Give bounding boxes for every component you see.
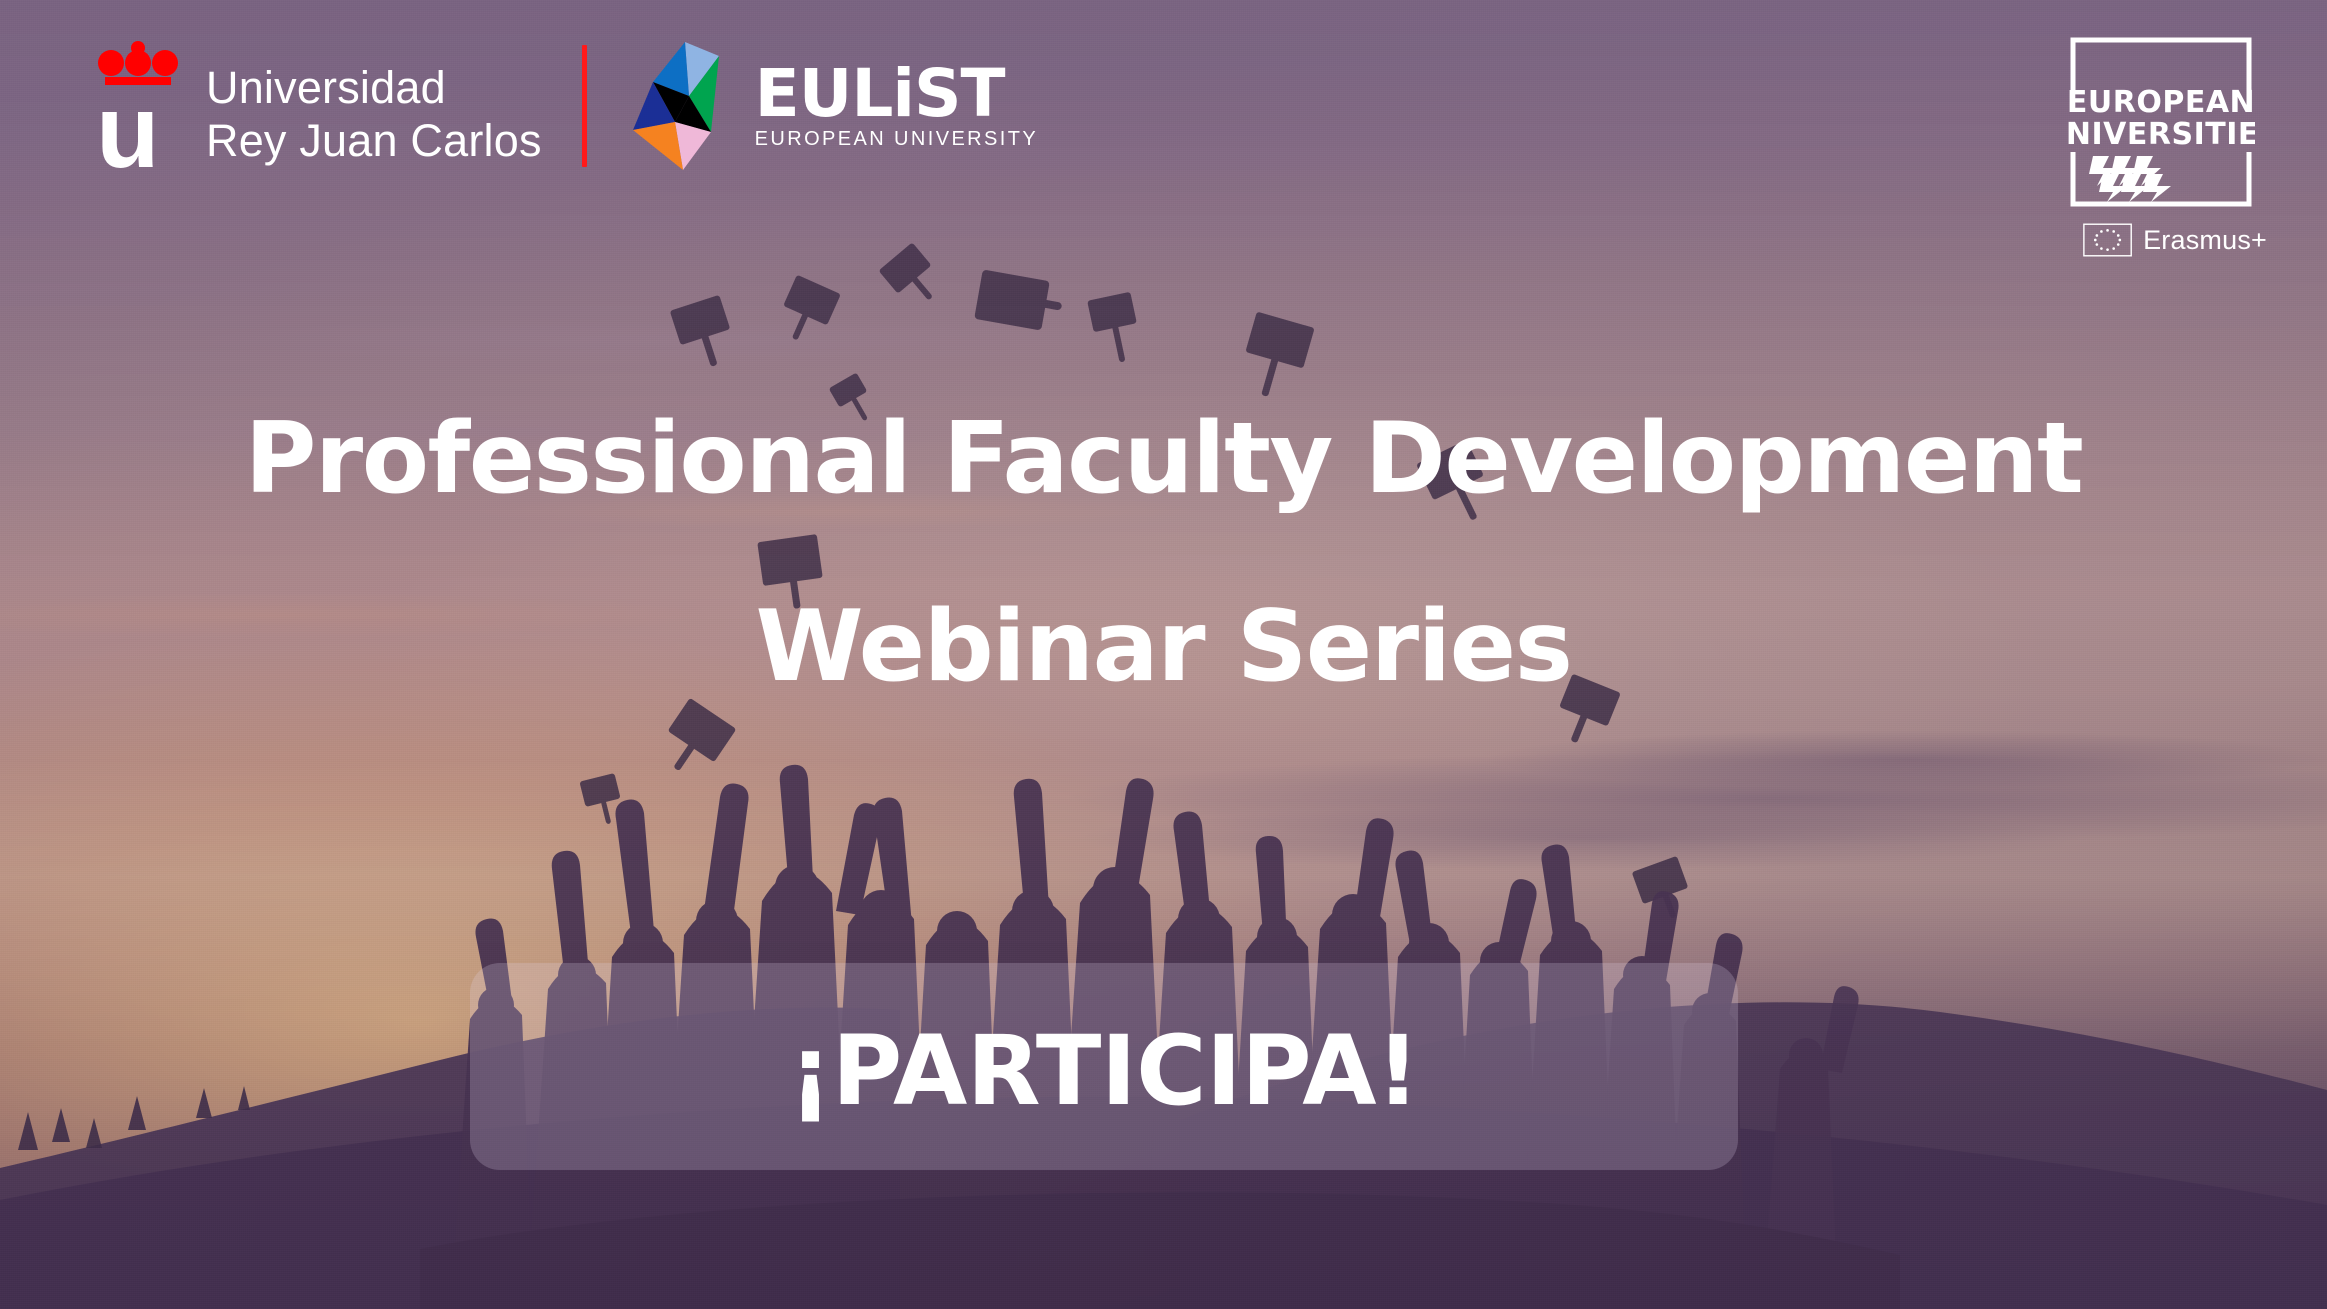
urjc-crown-u-mark: u xyxy=(96,41,180,171)
eulist-tagline: EUROPEAN UNIVERSITY xyxy=(755,128,1038,150)
erasmus-plus-label: Erasmus+ xyxy=(2143,226,2267,255)
eulist-name: EULiST xyxy=(755,63,1038,125)
urjc-u-letter: u xyxy=(96,93,158,171)
logo-bar-left: u Universidad Rey Juan Carlos EULiST xyxy=(96,36,1038,176)
logo-bar-right: EUROPEAN UNIVERSITIES xyxy=(2067,34,2267,259)
poster-canvas: u Universidad Rey Juan Carlos EULiST xyxy=(0,0,2327,1309)
participa-button[interactable]: ¡PARTICIPA! xyxy=(470,963,1738,1170)
svg-text:UNIVERSITIES: UNIVERSITIES xyxy=(2067,117,2255,152)
urjc-line-2: Rey Juan Carlos xyxy=(206,114,542,167)
title-line-2: Webinar Series xyxy=(0,592,2327,702)
participa-button-label: ¡PARTICIPA! xyxy=(789,1021,1420,1121)
title-line-1: Professional Faculty Development xyxy=(0,404,2327,514)
logo-divider xyxy=(582,45,587,167)
eulist-gem-icon xyxy=(623,36,733,176)
urjc-logo: u Universidad Rey Juan Carlos xyxy=(96,41,542,171)
svg-text:EUROPEAN: EUROPEAN xyxy=(2067,85,2255,120)
eulist-wordmark: EULiST EUROPEAN UNIVERSITY xyxy=(755,63,1038,150)
erasmus-plus-lockup: Erasmus+ xyxy=(2067,221,2267,259)
eulist-logo: EULiST EUROPEAN UNIVERSITY xyxy=(623,36,1038,176)
european-universities-logo: EUROPEAN UNIVERSITIES xyxy=(2067,34,2255,214)
urjc-line-1: Universidad xyxy=(206,61,542,114)
page-title: Professional Faculty Development Webinar… xyxy=(0,404,2327,702)
urjc-wordmark: Universidad Rey Juan Carlos xyxy=(206,61,542,171)
european-universities-mark: EUROPEAN UNIVERSITIES xyxy=(2067,34,2255,214)
eu-flag-icon xyxy=(2083,221,2132,259)
